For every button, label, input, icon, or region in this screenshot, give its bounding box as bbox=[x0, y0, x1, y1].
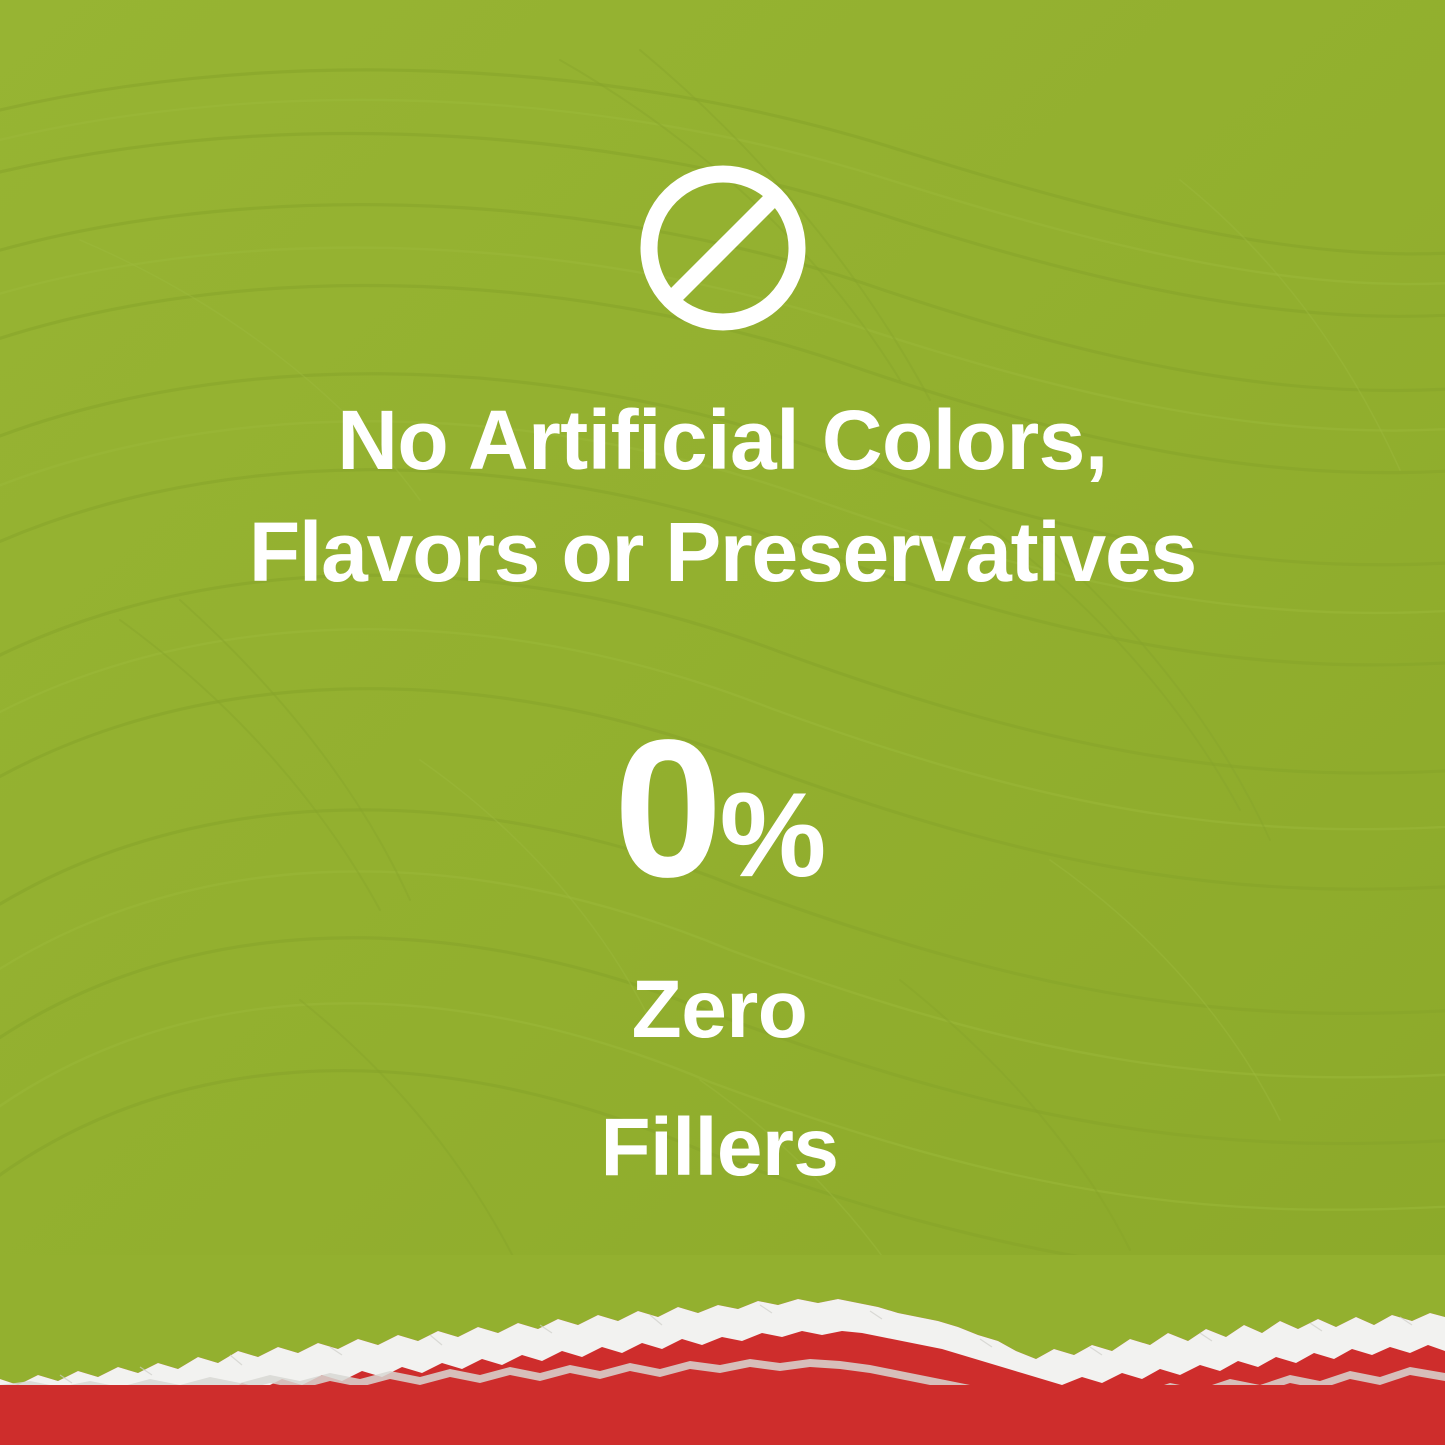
content-layer: No Artificial Colors, Flavors or Preserv… bbox=[0, 0, 1445, 1340]
stat-label-line-2: Fillers bbox=[600, 1096, 838, 1200]
stat-number: 0% bbox=[600, 720, 838, 924]
stat-block: 0% Zero Fillers bbox=[0, 720, 1445, 1200]
stat-label-line-1: Zero bbox=[600, 958, 838, 1062]
percent-symbol: % bbox=[720, 768, 826, 902]
product-feature-graphic: No Artificial Colors, Flavors or Preserv… bbox=[0, 0, 1445, 1445]
prohibition-no-symbol-icon bbox=[638, 163, 808, 333]
stat-number-value: 0 bbox=[614, 699, 720, 918]
headline-line-1: No Artificial Colors, bbox=[0, 384, 1445, 496]
headline: No Artificial Colors, Flavors or Preserv… bbox=[0, 384, 1445, 608]
headline-line-2: Flavors or Preservatives bbox=[0, 496, 1445, 608]
